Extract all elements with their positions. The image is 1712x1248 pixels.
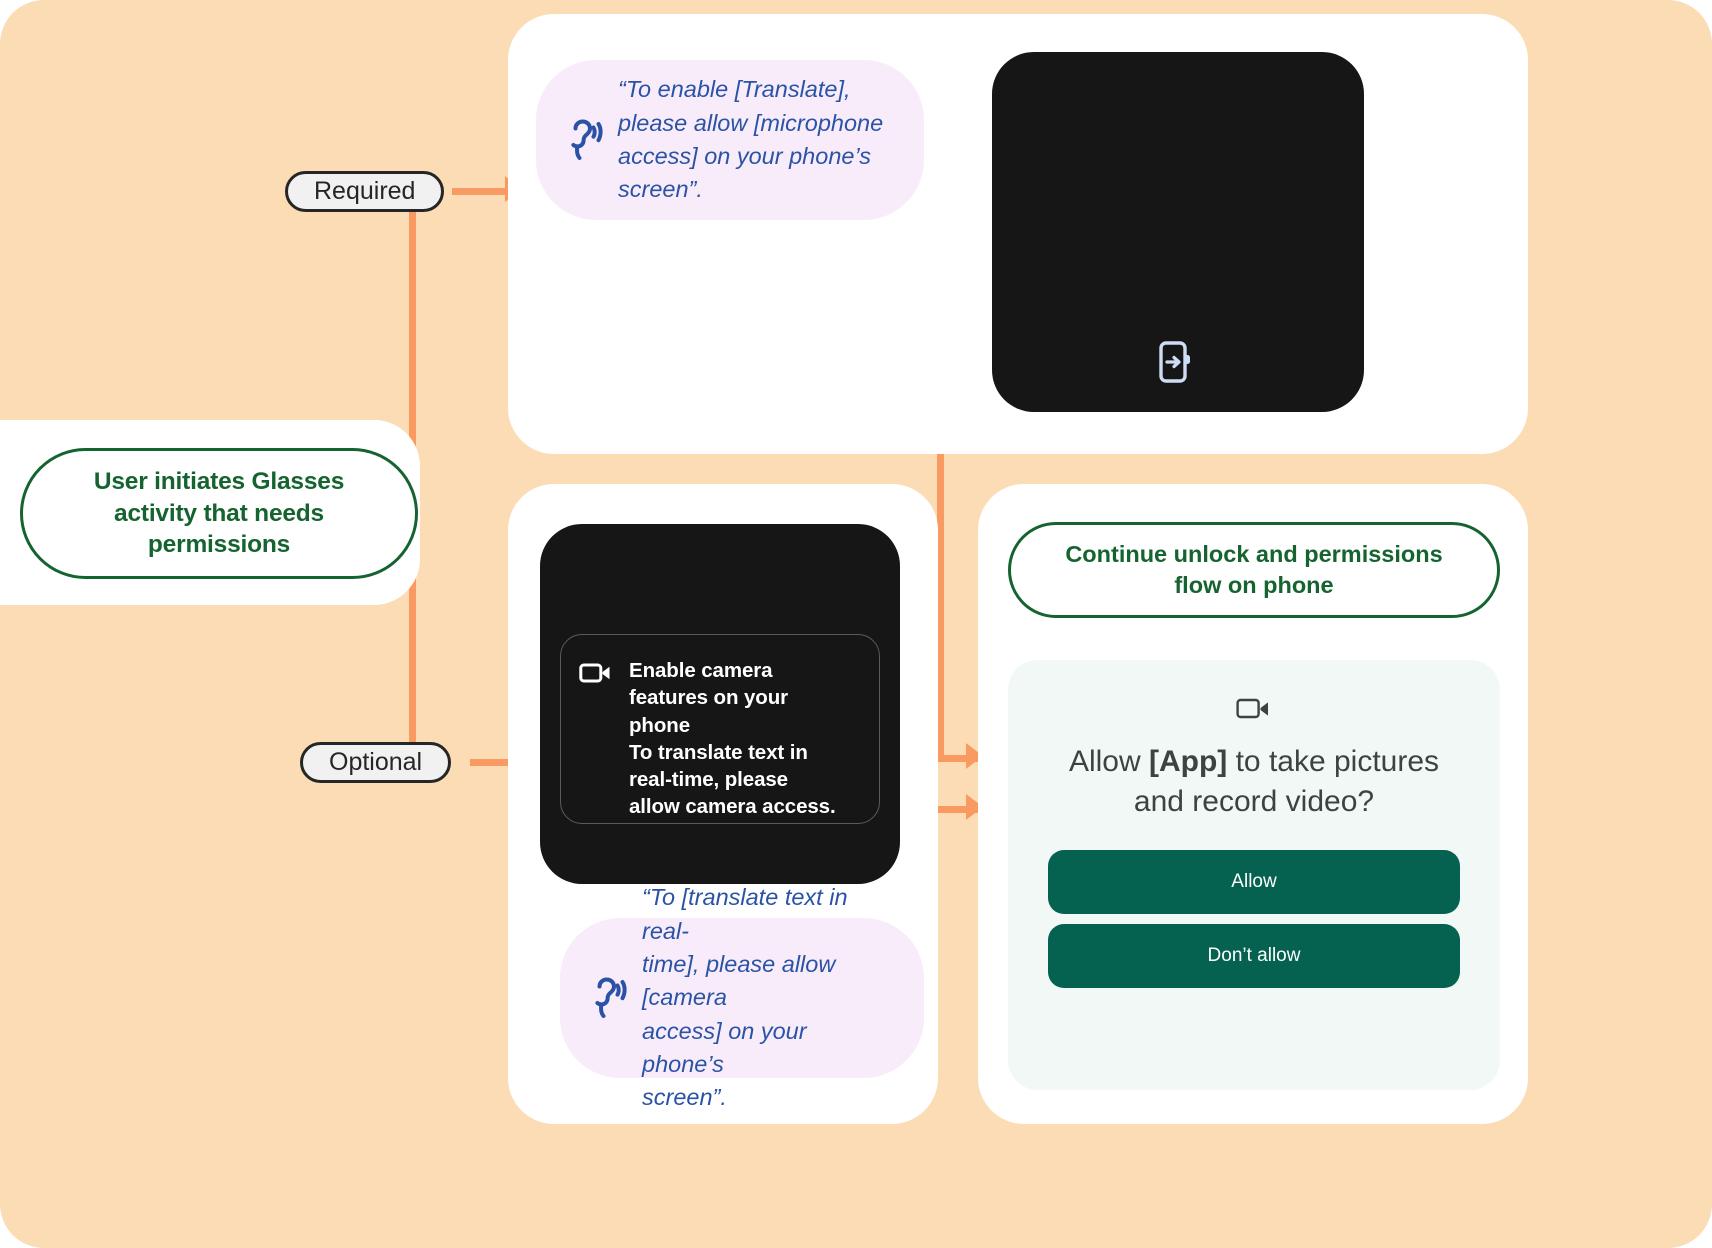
flow-diagram-canvas: User initiates Glasses activity that nee… [0,0,1712,1248]
branch-label-optional[interactable]: Optional [300,742,451,783]
start-node[interactable]: User initiates Glasses activity that nee… [20,448,418,579]
continue-node[interactable]: Continue unlock and permissions flow on … [1008,522,1500,618]
branch-label-required-text: Required [314,177,415,206]
voice-prompt-text-bottom: “To [translate text in real- time], plea… [642,881,924,1115]
voice-prompt-bubble-bottom: “To [translate text in real- time], plea… [560,918,924,1078]
continue-node-label: Continue unlock and permissions flow on … [1065,539,1442,600]
allow-button-label: Allow [1231,871,1276,893]
video-camera-icon [1008,696,1500,722]
dont-allow-button[interactable]: Don’t allow [1048,924,1460,988]
permission-title-app: [App] [1149,745,1227,778]
video-camera-icon [579,657,615,823]
permission-title-part1: Allow [1069,745,1149,778]
phone-unlock-icon [1155,340,1195,384]
camera-notification-card: Enable camera features on your phone To … [560,634,880,824]
camera-notification-title: Enable camera features on your phone [629,657,836,739]
voice-prompt-text-top: “To enable [Translate], please allow [mi… [618,73,913,206]
dont-allow-button-label: Don’t allow [1208,945,1301,967]
android-permission-dialog: Allow [App] to take pictures and record … [1008,660,1500,1090]
voice-prompt-bubble-top: “To enable [Translate], please allow [mi… [536,60,924,220]
start-node-label: User initiates Glasses activity that nee… [94,466,344,562]
permission-dialog-title: Allow [App] to take pictures and record … [1008,742,1500,822]
hearing-icon [554,119,608,161]
branch-label-optional-text: Optional [329,748,422,777]
branch-label-required[interactable]: Required [285,171,444,212]
allow-button[interactable]: Allow [1048,850,1460,914]
hearing-icon [578,977,632,1019]
camera-notification-body: To translate text in real-time, please a… [629,739,836,821]
